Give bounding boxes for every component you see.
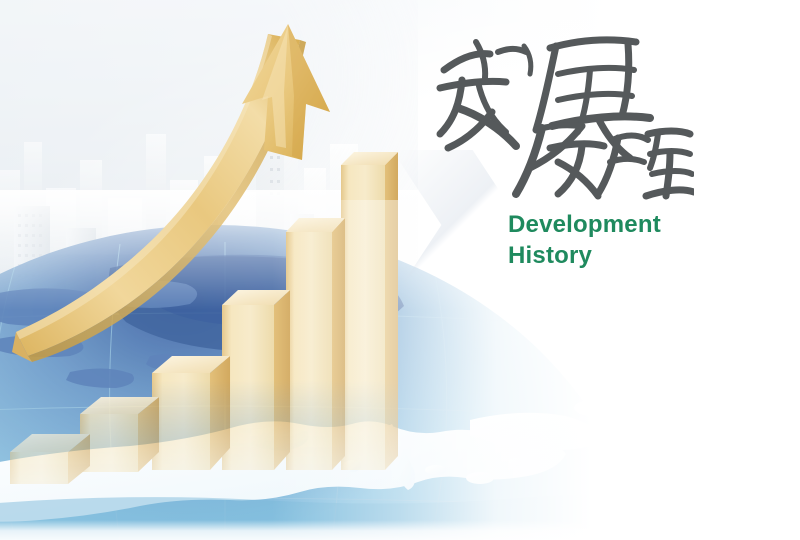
world-globe	[0, 225, 645, 540]
english-title: Development History	[508, 210, 712, 271]
title-block: Development History	[432, 22, 712, 271]
banner-canvas: Development History	[0, 0, 800, 540]
bottom-fade	[0, 520, 800, 540]
chinese-calligraphy-title	[432, 22, 694, 208]
cityscape-photo	[0, 0, 418, 312]
